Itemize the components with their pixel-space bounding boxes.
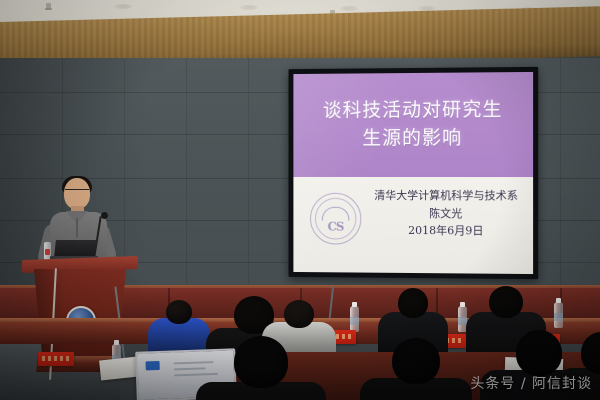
audience-black-hair-woman-head: [489, 286, 523, 318]
slide-title-line2: 生源的影响: [293, 124, 533, 152]
downlight-1: [114, 4, 132, 9]
microphone-icon: [101, 212, 108, 219]
audience-foreground-mid: [360, 338, 472, 400]
glasses-icon: [65, 189, 89, 196]
water-bottle-1: [350, 306, 359, 332]
presenter-placket: [76, 218, 78, 238]
laptop-lid: [54, 240, 97, 257]
audience-foreground-left: [196, 336, 326, 400]
sprinkler-1: [46, 3, 51, 10]
slide-affiliation: 清华大学计算机科学与技术系: [374, 189, 518, 202]
audience-foreground-mid-head: [392, 338, 440, 384]
lecture-hall-photo: 谈科技活动对研究生 生源的影响 CS 清华大学计算机科学与技术系 陈文光 201…: [0, 0, 600, 400]
monitor-logo-icon: [146, 361, 160, 370]
audience-blue-shirt-head: [166, 300, 192, 324]
seal-arc: [322, 207, 350, 221]
slide-title: 谈科技活动对研究生 生源的影响: [293, 96, 533, 152]
water-bottle-3: [554, 302, 563, 328]
slide-speaker-name: 陈文光: [364, 204, 528, 222]
projection-screen-surface: 谈科技活动对研究生 生源的影响 CS 清华大学计算机科学与技术系 陈文光 201…: [293, 72, 533, 274]
name-placard-1: [38, 352, 74, 366]
audience-dark-suit-right-head: [398, 288, 428, 318]
audience-light-shirt-head: [284, 300, 314, 328]
slide-body: 清华大学计算机科学与技术系 陈文光 2018年6月9日: [364, 187, 528, 241]
seal-text: CS: [311, 220, 360, 234]
downlight-3: [340, 6, 358, 11]
slide-title-line1: 谈科技活动对研究生: [323, 98, 503, 121]
projection-screen: 谈科技活动对研究生 生源的影响 CS 清华大学计算机科学与技术系 陈文光 201…: [289, 67, 539, 279]
tsinghua-cs-seal-icon: CS: [310, 193, 361, 245]
watermark: 头条号 / 阿信封谈: [470, 373, 592, 393]
slide-date: 2018年6月9日: [364, 222, 528, 240]
downlight-2: [240, 5, 258, 10]
audience-foreground-left-head: [234, 336, 288, 388]
